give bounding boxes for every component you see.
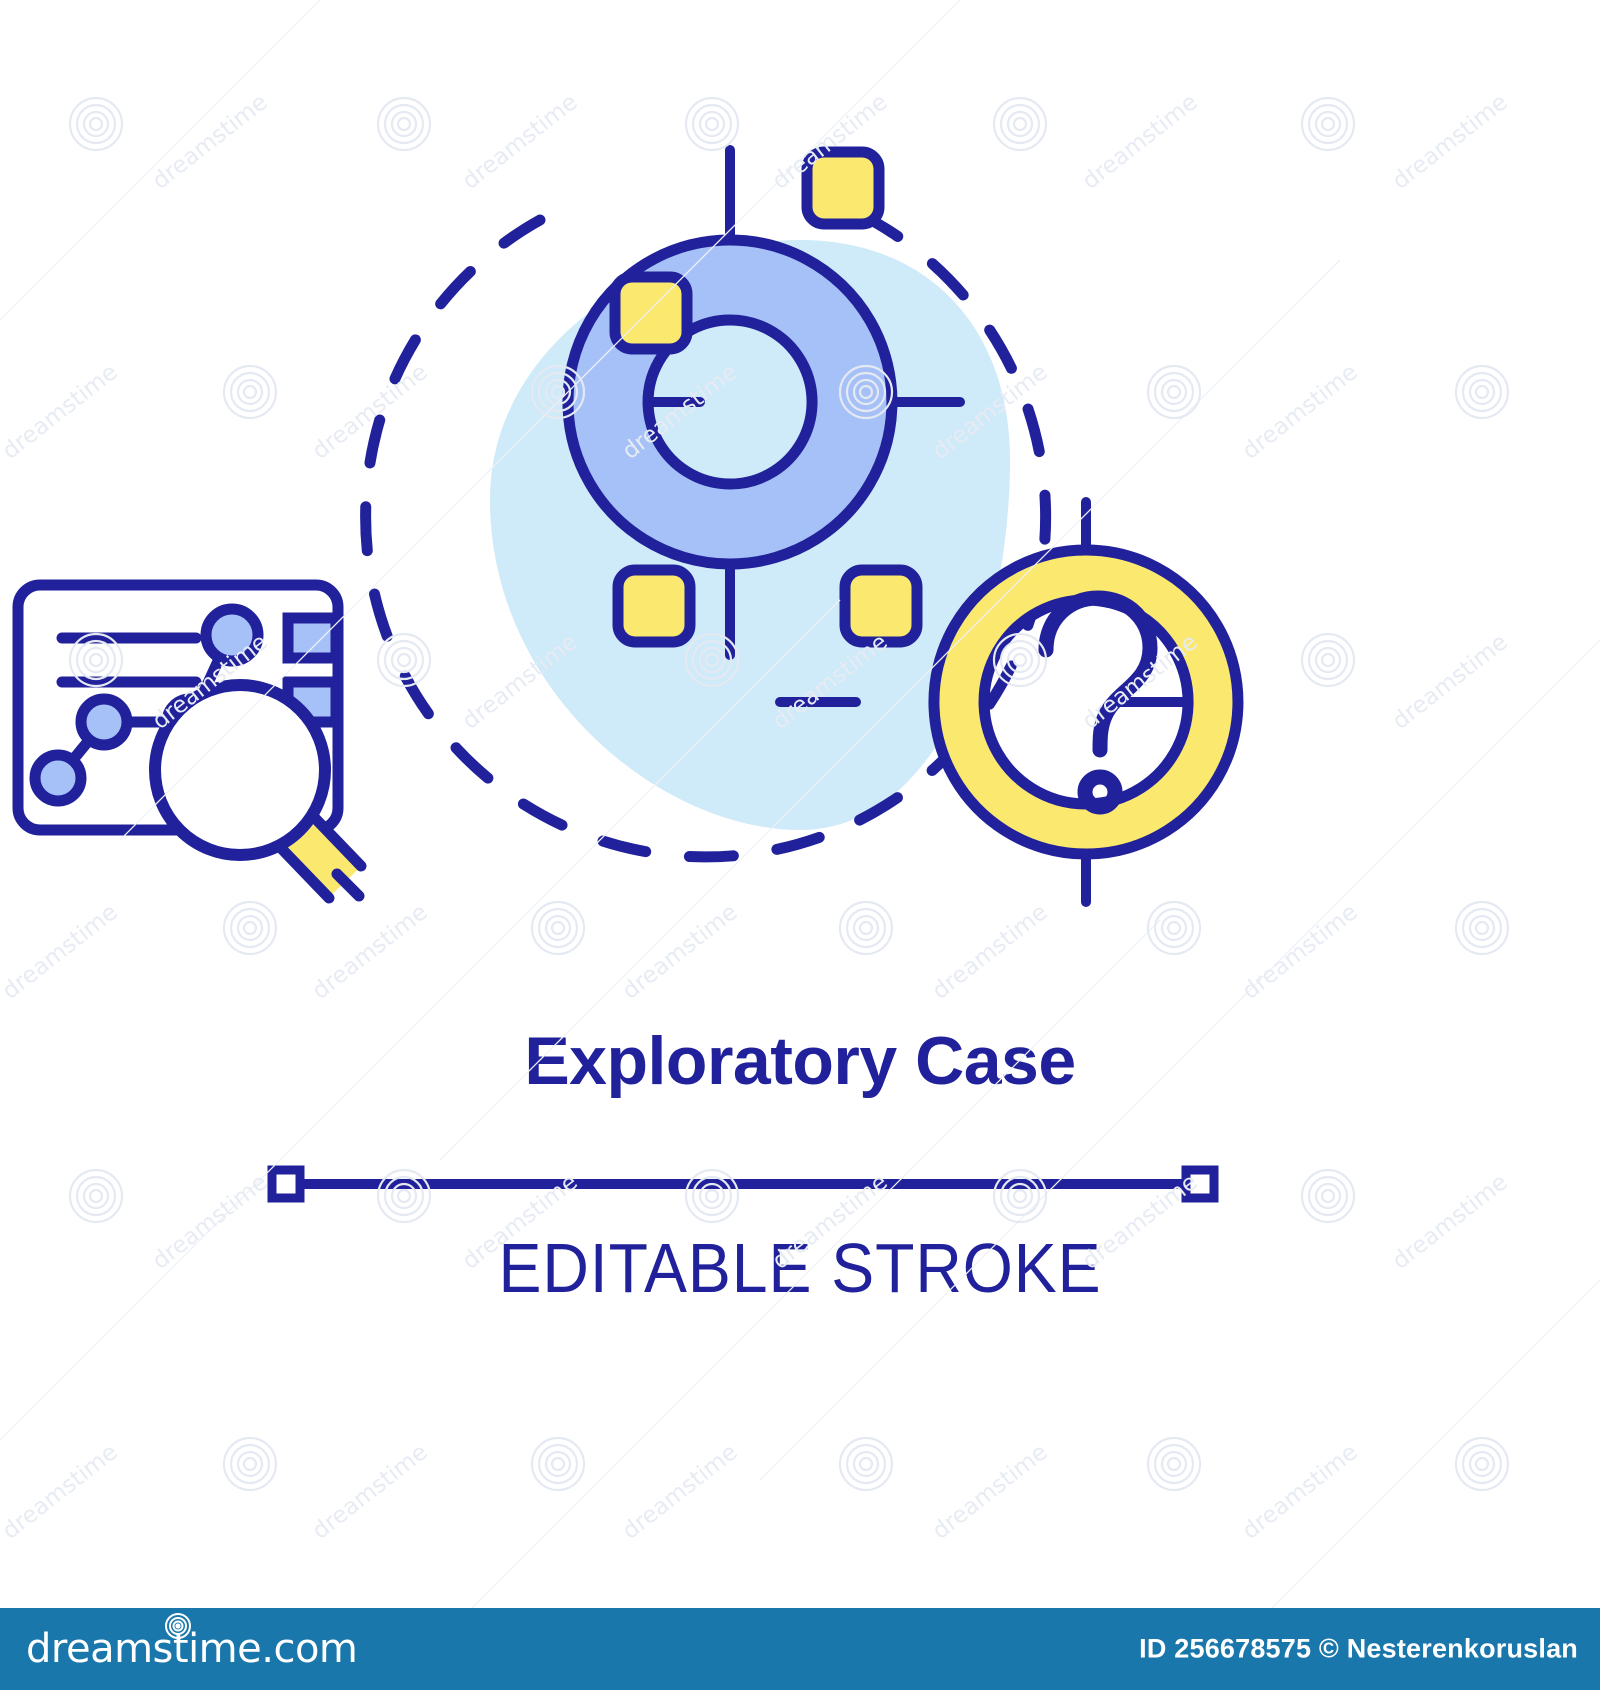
analytics-panel	[18, 585, 361, 898]
dreamstime-footer-bar: dreamstime.com ID 256678575 © Nesterenko…	[0, 1608, 1600, 1690]
editable-stroke-label: EDITABLE STROKE	[64, 1228, 1536, 1308]
image-id-credit: ID 256678575 © Nesterenkoruslan	[1139, 1634, 1578, 1665]
dreamstime-logo[interactable]: dreamstime.com	[26, 1629, 357, 1669]
divider-left-square	[272, 1170, 300, 1198]
magnifier-lens	[155, 685, 325, 855]
divider	[0, 1152, 1600, 1222]
divider-right-square	[1186, 1170, 1214, 1198]
concept-title: Exploratory Case	[0, 1022, 1600, 1100]
dreamstime-spiral-icon	[159, 1611, 197, 1645]
concept-illustration	[0, 130, 1600, 990]
